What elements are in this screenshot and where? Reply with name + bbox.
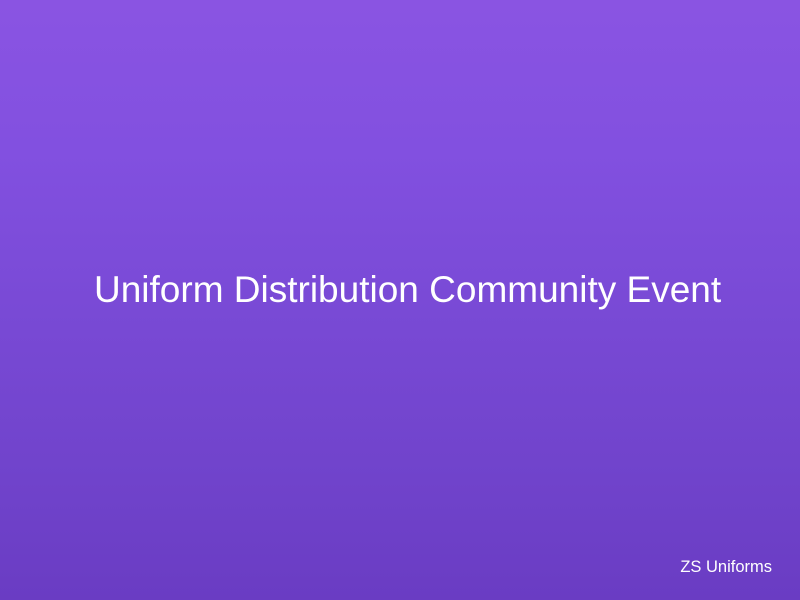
presentation-slide: Uniform Distribution Community Event ZS … <box>0 0 800 600</box>
title-placeholder: Uniform Distribution Community Event <box>94 262 734 318</box>
footer-placeholder: ZS Uniforms <box>680 556 772 578</box>
footer-brand-label: ZS Uniforms <box>680 557 772 577</box>
slide-title: Uniform Distribution Community Event <box>94 268 721 312</box>
slide-content-area: Uniform Distribution Community Event ZS … <box>0 0 800 600</box>
